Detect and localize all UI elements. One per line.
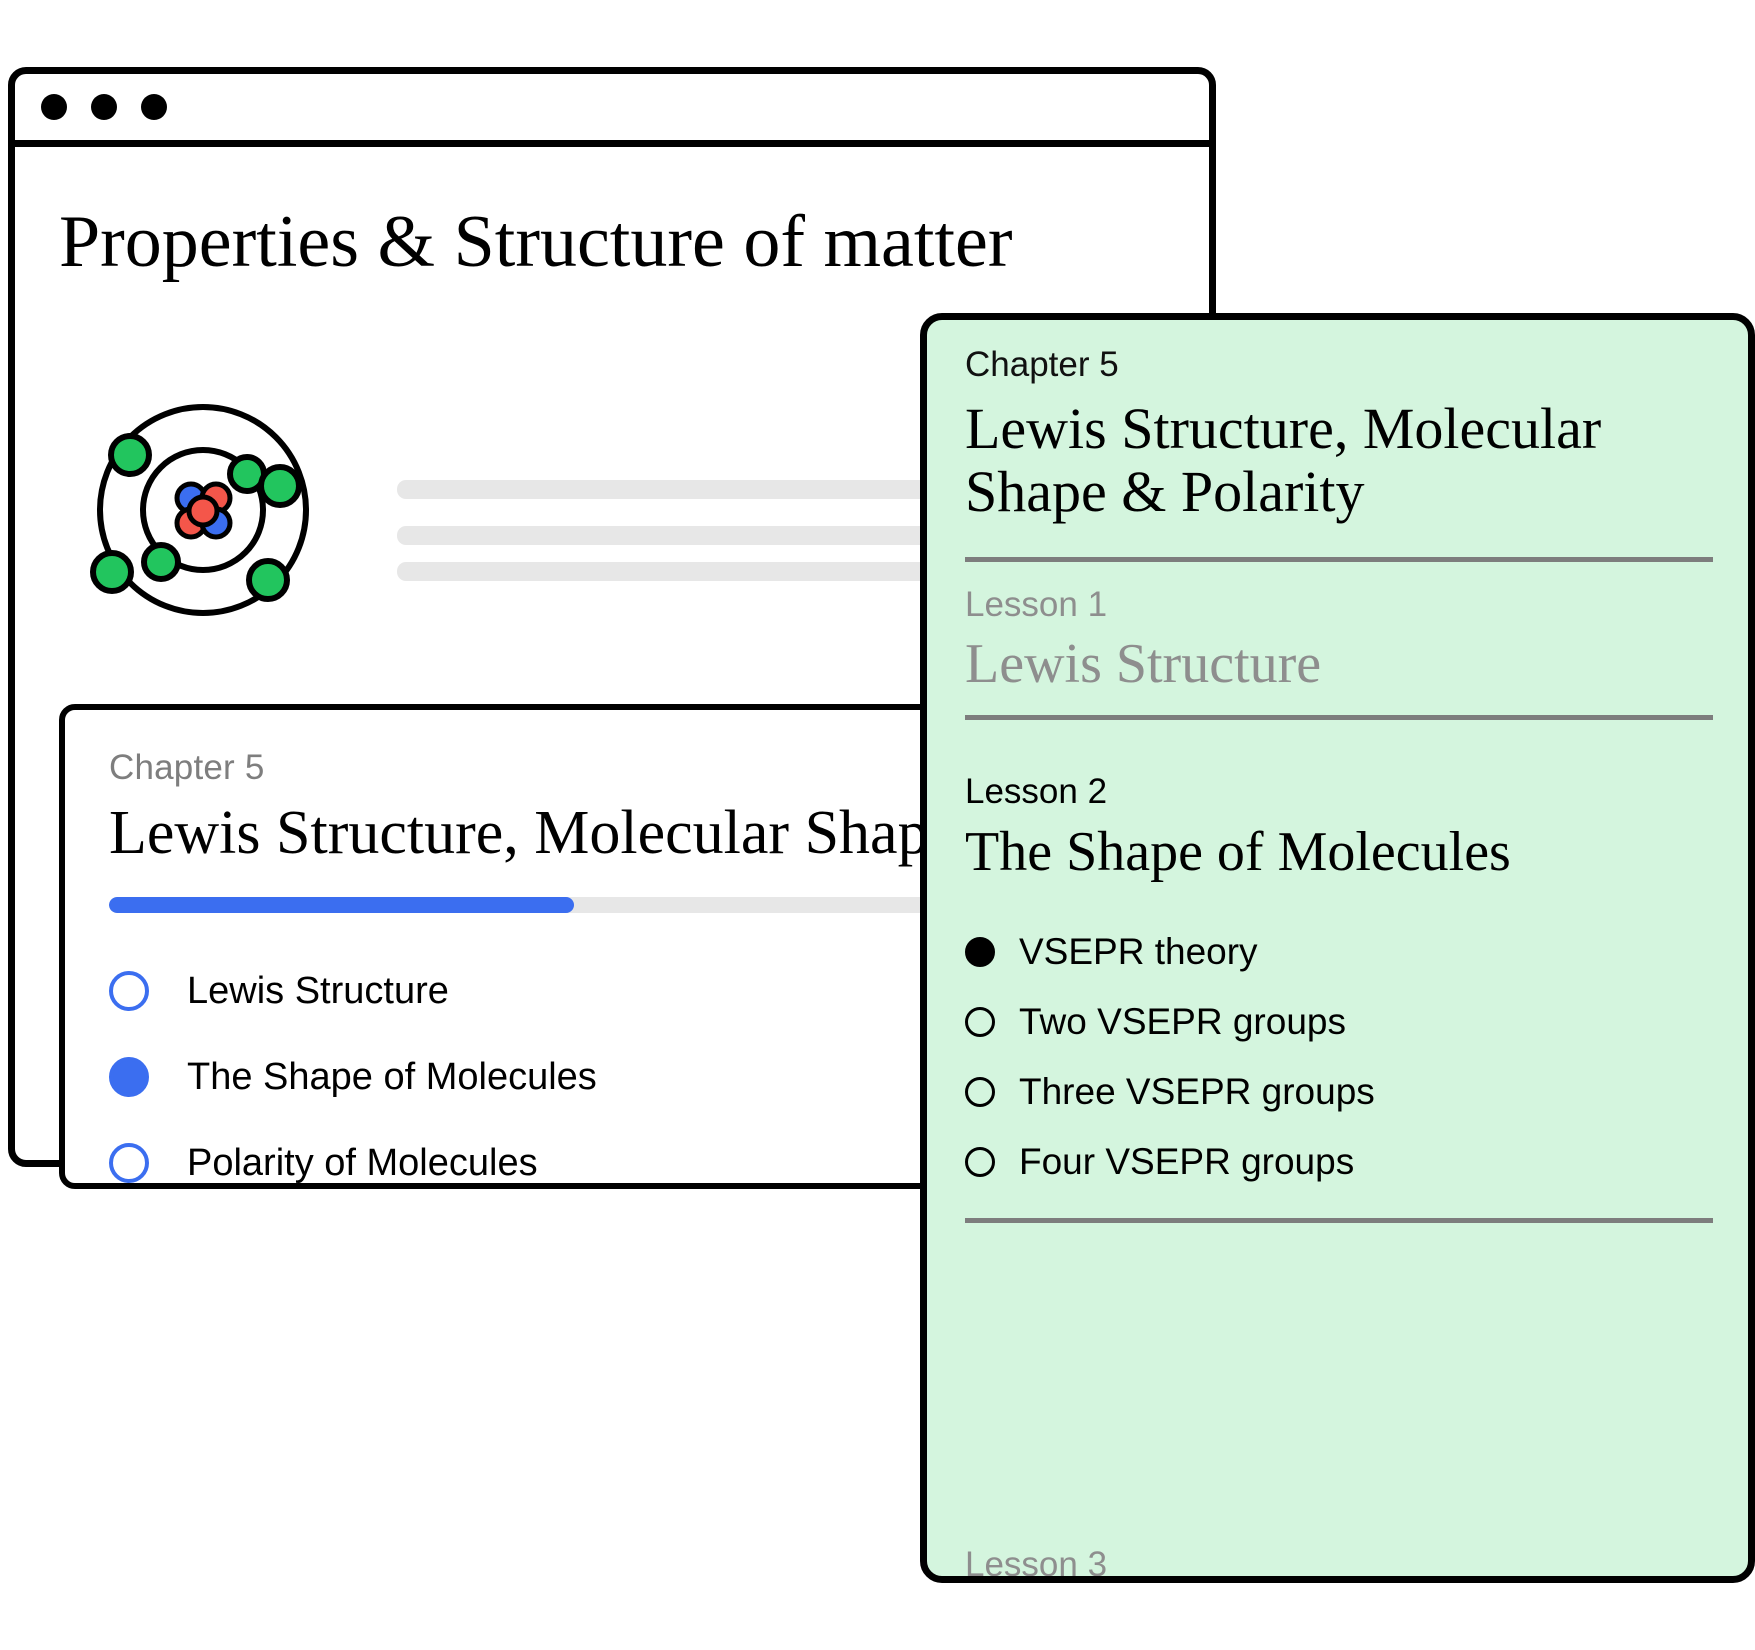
radio-icon[interactable] [109, 1057, 149, 1097]
topic-label: Four VSEPR groups [1019, 1141, 1354, 1183]
chapter-detail-panel[interactable]: Chapter 5 Lewis Structure, Molecular Sha… [920, 313, 1755, 1583]
list-item[interactable]: Four VSEPR groups [965, 1127, 1705, 1197]
divider [965, 715, 1713, 720]
radio-icon[interactable] [965, 1077, 995, 1107]
radio-icon[interactable] [109, 1143, 149, 1183]
maximize-icon[interactable] [141, 94, 167, 120]
lesson-title[interactable]: Lewis Structure [965, 632, 1321, 696]
atom-icon [83, 390, 323, 630]
topic-label: Two VSEPR groups [1019, 1001, 1346, 1043]
divider [965, 557, 1713, 562]
radio-icon[interactable] [965, 1007, 995, 1037]
radio-icon[interactable] [965, 1147, 995, 1177]
minimize-icon[interactable] [91, 94, 117, 120]
lesson-number: Lesson 1 [965, 585, 1107, 625]
list-item[interactable]: Three VSEPR groups [965, 1057, 1705, 1127]
topic-label: Three VSEPR groups [1019, 1071, 1375, 1113]
chapter-label: Chapter 5 [109, 748, 265, 788]
radio-icon[interactable] [965, 937, 995, 967]
page-title: Properties & Structure of matter [59, 205, 1013, 279]
list-item[interactable]: VSEPR theory [965, 917, 1705, 987]
list-item[interactable]: Two VSEPR groups [965, 987, 1705, 1057]
browser-titlebar [15, 74, 1209, 147]
topic-list: VSEPR theory Two VSEPR groups Three VSEP… [965, 917, 1705, 1197]
lesson-number: Lesson 3 [965, 1545, 1107, 1583]
lesson-label: Polarity of Molecules [187, 1142, 538, 1185]
radio-icon[interactable] [109, 971, 149, 1011]
close-icon[interactable] [41, 94, 67, 120]
lesson-number: Lesson 2 [965, 772, 1107, 812]
lesson-label: Lewis Structure [187, 970, 449, 1013]
chapter-label: Chapter 5 [965, 345, 1119, 385]
lesson-label: The Shape of Molecules [187, 1056, 597, 1099]
divider [965, 1218, 1713, 1223]
progress-bar-fill [109, 897, 574, 913]
chapter-title: Lewis Structure, Molecular Shape & Polar… [965, 398, 1705, 523]
lesson-title[interactable]: The Shape of Molecules [965, 820, 1511, 884]
topic-label: VSEPR theory [1019, 931, 1258, 973]
